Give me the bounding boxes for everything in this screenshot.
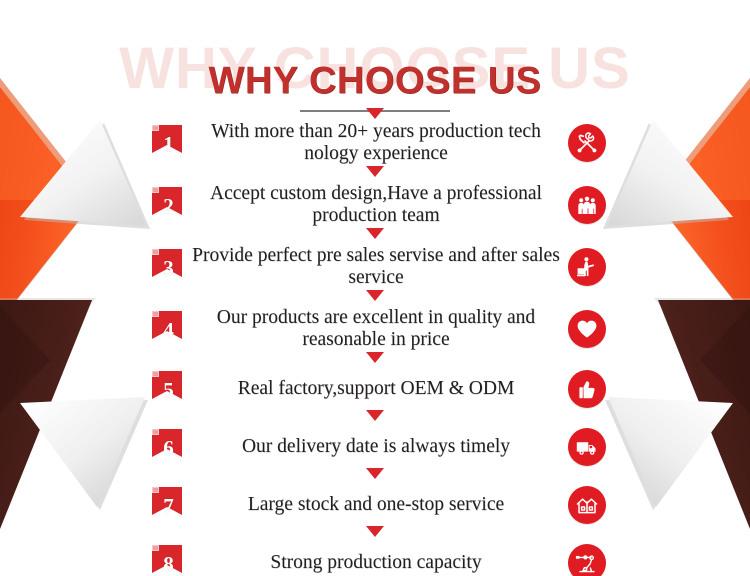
page-title: WHY CHOOSE US xyxy=(0,62,750,100)
list-item: 8 Strong production capacity xyxy=(0,534,750,576)
badge-number: 5 xyxy=(150,369,184,409)
number-badge: 7 xyxy=(150,485,184,525)
list-item-text: Our products are excellent in quality an… xyxy=(184,307,568,351)
heart-icon xyxy=(568,310,606,348)
badge-number: 1 xyxy=(150,123,184,163)
reason-list: 1 With more than 20+ years production te… xyxy=(0,112,750,576)
badge-number: 2 xyxy=(150,185,184,225)
thumbs-up-icon xyxy=(568,370,606,408)
title-zone: WHY CHOOSE US WHY CHOOSE US xyxy=(0,18,750,113)
list-item-text: Accept custom design,Have a professional… xyxy=(184,183,568,227)
list-item: 4 Our products are excellent in quality … xyxy=(0,298,750,360)
list-item-text: Provide perfect pre sales servise and af… xyxy=(184,245,568,289)
list-item-text: Real factory,support OEM & ODM xyxy=(184,378,568,400)
tools-icon xyxy=(568,124,606,162)
list-item-text: Large stock and one-stop service xyxy=(184,494,568,516)
number-badge: 5 xyxy=(150,369,184,409)
number-badge: 4 xyxy=(150,309,184,349)
service-person-icon xyxy=(568,248,606,286)
badge-number: 8 xyxy=(150,543,184,576)
list-item: 3 Provide perfect pre sales servise and … xyxy=(0,236,750,298)
why-choose-us-poster: WHY CHOOSE US WHY CHOOSE US 1 With more … xyxy=(0,0,750,576)
number-badge: 3 xyxy=(150,247,184,287)
number-badge: 2 xyxy=(150,185,184,225)
team-icon xyxy=(568,186,606,224)
badge-number: 3 xyxy=(150,247,184,287)
badge-number: 4 xyxy=(150,309,184,349)
robot-arm-icon xyxy=(568,544,606,576)
badge-number: 7 xyxy=(150,485,184,525)
number-badge: 6 xyxy=(150,427,184,467)
list-item-text: Our delivery date is always timely xyxy=(184,436,568,458)
number-badge: 8 xyxy=(150,543,184,576)
number-badge: 1 xyxy=(150,123,184,163)
factory-house-icon xyxy=(568,486,606,524)
delivery-truck-icon xyxy=(568,428,606,466)
badge-number: 6 xyxy=(150,427,184,467)
list-item: 1 With more than 20+ years production te… xyxy=(0,112,750,174)
list-item-text: With more than 20+ years production tech… xyxy=(184,121,568,165)
list-item-text: Strong production capacity xyxy=(184,552,568,574)
list-item: 2 Accept custom design,Have a profession… xyxy=(0,174,750,236)
